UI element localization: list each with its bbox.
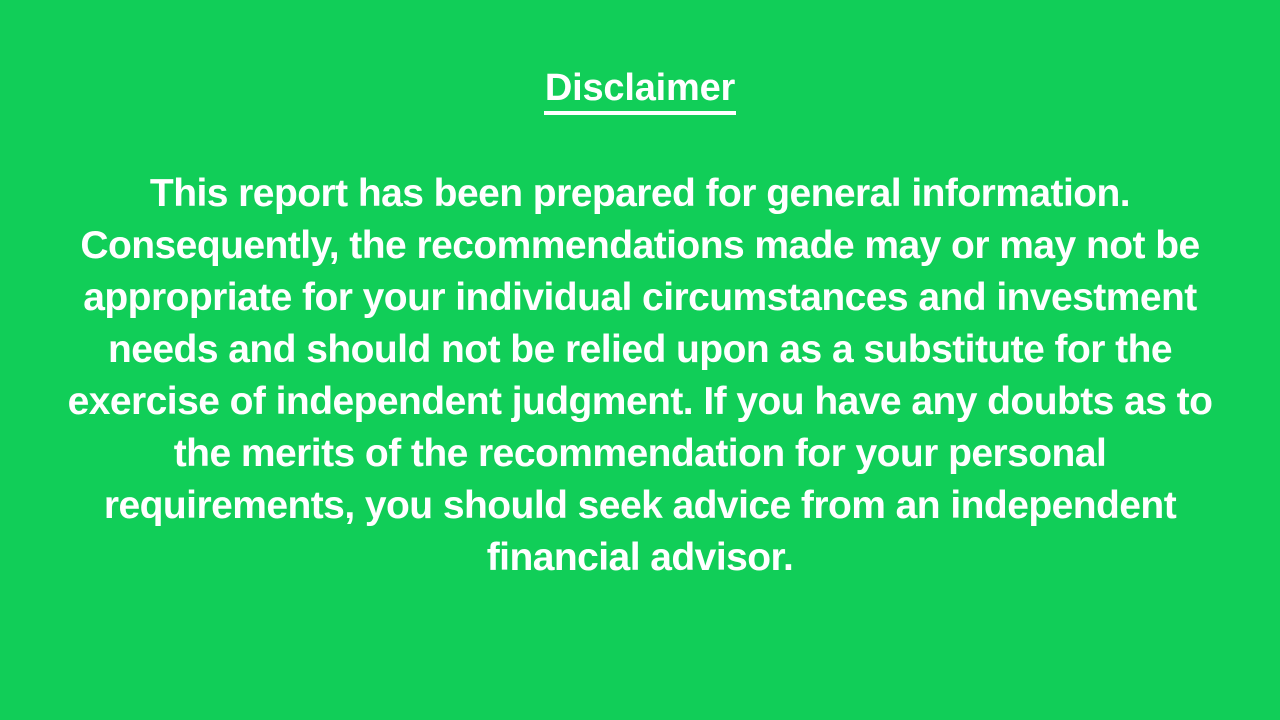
disclaimer-slide: Disclaimer This report has been prepared… [0, 0, 1280, 720]
body-line: exercise of independent judgment. If you… [18, 376, 1262, 428]
disclaimer-body: This report has been prepared for genera… [18, 168, 1262, 584]
page-title: Disclaimer [0, 66, 1280, 112]
page-title-text-wrapper: Disclaimer [545, 66, 735, 112]
page-title-underline [544, 111, 736, 115]
body-line: needs and should not be relied upon as a… [18, 324, 1262, 376]
body-line: appropriate for your individual circumst… [18, 272, 1262, 324]
body-line: Consequently, the recommendations made m… [18, 220, 1262, 272]
body-line: the merits of the recommendation for you… [18, 428, 1262, 480]
body-line: financial advisor. [18, 532, 1262, 584]
body-line: This report has been prepared for genera… [18, 168, 1262, 220]
page-title-label: Disclaimer [545, 67, 735, 109]
body-line: requirements, you should seek advice fro… [18, 480, 1262, 532]
